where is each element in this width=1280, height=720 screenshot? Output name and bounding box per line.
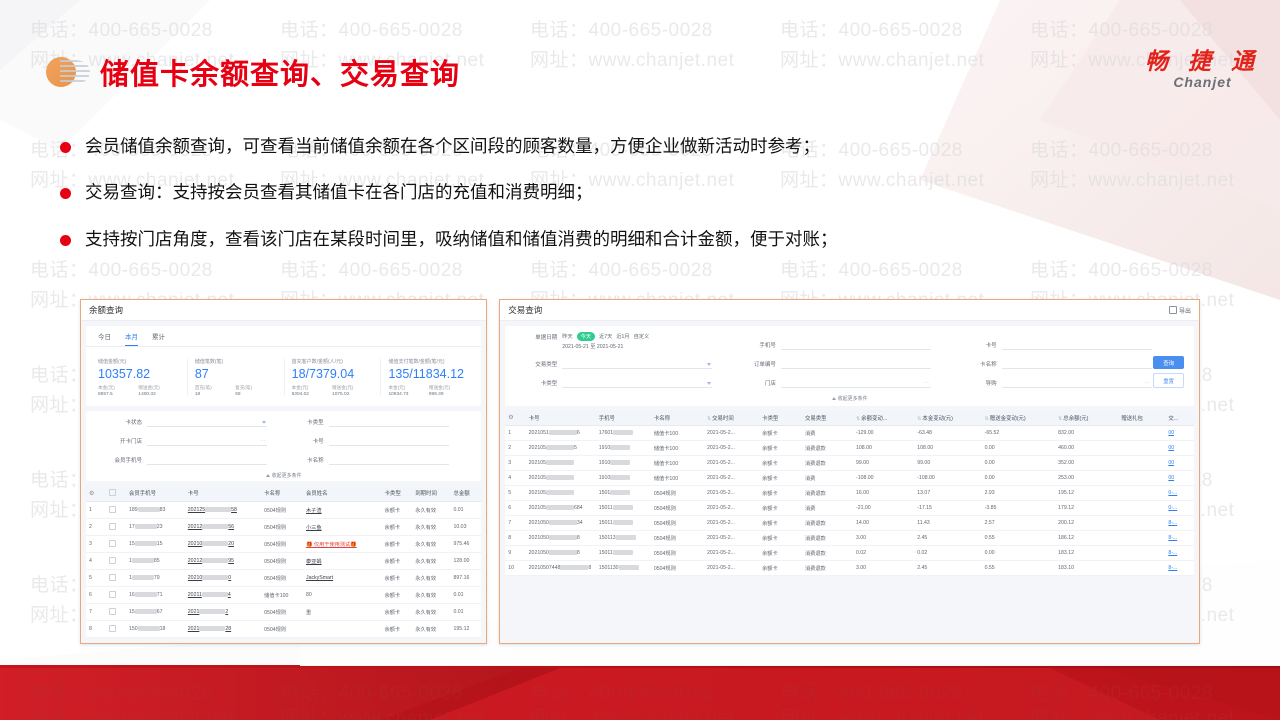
- filter-input[interactable]: [329, 417, 449, 427]
- cell-card-type: 余额卡: [759, 546, 802, 561]
- cell-total-amount: 897.16: [450, 570, 481, 587]
- balance-table-body: 118983202125580504规则木子渣余额卡永久有效0.01217232…: [86, 502, 481, 638]
- cell-expire: 永久有效: [412, 502, 450, 519]
- cell-total-balance: 183.10: [1055, 561, 1118, 576]
- col-card-name: 卡名称: [261, 485, 303, 502]
- chevron-up-icon: [266, 474, 270, 477]
- cell-expire: 永久有效: [412, 621, 450, 638]
- stat-sub-value: 1075.02: [332, 392, 372, 397]
- filter-card-type[interactable]: 卡类型: [515, 378, 736, 388]
- cell-balance-change: 3.00: [853, 561, 914, 576]
- cell-card-name: 储值卡100: [651, 441, 704, 456]
- transaction-action-buttons: 查询 重置: [1153, 356, 1184, 388]
- filter-input[interactable]: [781, 340, 931, 350]
- table-row[interactable]: 6202105684150110504规则2021-05-2...余额卡消费-2…: [505, 501, 1194, 516]
- cell-more[interactable]: 8-...: [1165, 516, 1194, 531]
- cell-member-name[interactable]: 秦亚娟: [303, 553, 382, 570]
- cell-expire: 永久有效: [412, 587, 450, 604]
- row-index: 6: [86, 587, 106, 604]
- table-row[interactable]: 51792021000504规则JackySmart余额卡永久有效897.16: [86, 570, 481, 587]
- more-dots-icon: ···: [260, 439, 265, 444]
- cell-total-balance: 200.12: [1055, 516, 1118, 531]
- cell-balance-change: 3.00: [853, 531, 914, 546]
- cell-card-no: 2021055: [526, 441, 596, 456]
- filter-input[interactable]: [147, 417, 267, 427]
- bullet-dot-icon: [60, 142, 71, 153]
- filter-card-status[interactable]: 卡状态: [96, 417, 284, 427]
- cell-phone: 1501: [596, 486, 651, 501]
- stat-sub: 复充(笔) 69: [235, 385, 275, 397]
- cell-more[interactable]: 00: [1165, 441, 1194, 456]
- quick-pick-today[interactable]: 今天: [577, 332, 595, 341]
- filter-member-phone[interactable]: 会员手机号: [96, 455, 284, 465]
- quick-pick-1month[interactable]: 近1月: [616, 333, 629, 340]
- cell-bonus-change: -3.85: [982, 501, 1056, 516]
- chanjet-logo: 畅 捷 通 Chanjet: [1145, 42, 1260, 90]
- row-checkbox[interactable]: [106, 570, 126, 587]
- cell-card-type: 余额卡: [759, 456, 802, 471]
- filter-input[interactable]: [1002, 359, 1152, 369]
- col-balance-change: ⇅余额变动...: [853, 410, 914, 426]
- row-checkbox[interactable]: [106, 519, 126, 536]
- cell-balance-change: 14.00: [853, 516, 914, 531]
- table-row[interactable]: 118983202125580504规则木子渣余额卡永久有效0.01: [86, 502, 481, 519]
- cell-total-balance: 832.00: [1055, 426, 1118, 441]
- cell-balance-change: -129.00: [853, 426, 914, 441]
- more-dots-icon: ···: [1145, 381, 1150, 386]
- stat-sub: 本金(元) 8957.5: [98, 385, 138, 397]
- cell-card-name: 0504规则: [651, 486, 704, 501]
- cell-member-name[interactable]: 木子渣: [303, 502, 382, 519]
- collapse-more-filters-label: 收起更多条件: [272, 472, 302, 479]
- cell-card-name: 储值卡100: [651, 456, 704, 471]
- cell-trans-type: 消费退款: [802, 546, 853, 561]
- cell-trans-type: 消费: [802, 426, 853, 441]
- table-row[interactable]: 2172320212560504规则小三鱼余额卡永久有效10.03: [86, 519, 481, 536]
- stat-sub-label: 本金(元): [292, 385, 332, 391]
- balance-filter-card: 卡状态 卡类型 开卡门店 ··· 卡号: [86, 411, 481, 481]
- screenshot-group: 余额查询 今日 本月 累计 储值金额(元) 10357.82 本金(元): [80, 299, 1200, 644]
- stat-sub-value: 69: [235, 392, 275, 397]
- cell-trans-type: 消费退款: [802, 531, 853, 546]
- settings-gear-icon[interactable]: ⚙: [89, 491, 94, 497]
- stat-sub-label: 赠送金(元): [429, 385, 469, 391]
- row-checkbox[interactable]: [106, 553, 126, 570]
- cell-principal-change: 11.43: [914, 516, 981, 531]
- cell-card-name: 0504规则: [651, 561, 704, 576]
- cell-expire: 永久有效: [412, 519, 450, 536]
- sort-icon[interactable]: ⇅: [707, 416, 711, 422]
- cell-member-name[interactable]: 80: [303, 587, 382, 604]
- cell-member-phone: 18983: [126, 502, 185, 519]
- cell-card-name: 0504规则: [261, 570, 303, 587]
- stat-sub-value: 899.39: [429, 392, 469, 397]
- cell-card-name: 储值卡100: [651, 471, 704, 486]
- sort-icon[interactable]: ⇅: [985, 416, 989, 422]
- chevron-down-icon: [707, 363, 711, 366]
- cell-member-name[interactable]: JackySmart: [303, 570, 382, 587]
- cell-more[interactable]: 8-...: [1165, 546, 1194, 561]
- row-checkbox[interactable]: [106, 536, 126, 553]
- cell-card-name: 0504规则: [261, 604, 303, 621]
- filter-input[interactable]: [1002, 340, 1152, 350]
- row-checkbox[interactable]: [106, 604, 126, 621]
- row-index: 9: [505, 546, 525, 561]
- cell-card-no: 202105: [526, 456, 596, 471]
- sort-icon[interactable]: ⇅: [1058, 416, 1062, 422]
- cell-trans-type: 消费退款: [802, 486, 853, 501]
- cell-total-balance: 352.00: [1055, 456, 1118, 471]
- table-row[interactable]: 12021051617601储值卡1002021-05-2...余额卡消费-12…: [505, 426, 1194, 441]
- cell-phone: 15011: [596, 546, 651, 561]
- cell-card-no[interactable]: 202114: [185, 587, 261, 604]
- cell-trans-type: 消费退款: [802, 441, 853, 456]
- cell-more[interactable]: 00: [1165, 456, 1194, 471]
- cell-bonus-change: 2.93: [982, 486, 1056, 501]
- col-total-balance: ⇅总余额(元): [1055, 410, 1118, 426]
- quick-pick-custom[interactable]: 自定义: [634, 333, 650, 340]
- row-index: 4: [86, 553, 106, 570]
- row-index: 8: [505, 531, 525, 546]
- select-all-checkbox[interactable]: [109, 489, 116, 496]
- cell-gift-package: [1118, 561, 1165, 576]
- filter-label: 订单编号: [736, 360, 776, 369]
- stat-label: 储值金额(元): [98, 358, 179, 365]
- cell-card-type: 余额卡: [759, 441, 802, 456]
- filter-label: 单据日期: [515, 332, 557, 342]
- table-header-row: ⚙ 会员手机号 卡号 卡名称 会员姓名 卡类型 到期时间 总金额: [86, 485, 481, 502]
- row-checkbox[interactable]: [106, 502, 126, 519]
- table-row[interactable]: 520210515010504规则2021-05-2...余额卡消费退款16.0…: [505, 486, 1194, 501]
- bullet-text: 支持按门店角度，查看该门店在某段时间里，吸纳储值和储值消费的明细和合计金额，便于…: [85, 228, 838, 253]
- balance-panel-body: 今日 本月 累计 储值金额(元) 10357.82 本金(元) 8957.5: [81, 321, 486, 643]
- cell-total-amount: 128.00: [450, 553, 481, 570]
- table-row[interactable]: 7202105034150110504规则2021-05-2...余额卡消费退款…: [505, 516, 1194, 531]
- filter-label: 开卡门店: [96, 437, 142, 446]
- col-expire-time: 到期时间: [412, 485, 450, 502]
- cell-card-type: 余额卡: [759, 486, 802, 501]
- cell-card-type: 余额卡: [382, 502, 413, 519]
- cell-card-type: 余额卡: [382, 536, 413, 553]
- table-row[interactable]: 61671202114储值卡10080余额卡永久有效0.01: [86, 587, 481, 604]
- cell-bonus-change: 0.00: [982, 546, 1056, 561]
- filter-store[interactable]: 门店 ···: [736, 378, 957, 388]
- filter-input[interactable]: [562, 359, 712, 369]
- filter-label: 卡名称: [957, 360, 997, 369]
- cell-member-name[interactable]: [303, 621, 382, 638]
- cell-card-name: 0504规则: [651, 546, 704, 561]
- more-dots-icon: ···: [924, 381, 929, 386]
- cell-card-no: 202105034: [526, 516, 596, 531]
- cell-member-name[interactable]: 🎁 仅用于使用测试🎁: [303, 536, 382, 553]
- cell-phone: 17601: [596, 426, 651, 441]
- cell-more[interactable]: 0-...: [1165, 486, 1194, 501]
- cell-card-no[interactable]: 2021256: [185, 519, 261, 536]
- table-row[interactable]: 71567202120504规则重余额卡永久有效0.01: [86, 604, 481, 621]
- filter-transaction-type[interactable]: 交易类型: [515, 359, 736, 369]
- tab-this-month[interactable]: 本月: [125, 331, 138, 346]
- table-row[interactable]: 220210551910储值卡1002021-05-2...余额卡消费退款108…: [505, 441, 1194, 456]
- cell-card-no[interactable]: 202128: [185, 621, 261, 638]
- cell-total-amount: 0.01: [450, 502, 481, 519]
- cell-principal-change: 108.00: [914, 441, 981, 456]
- cell-card-type: 余额卡: [759, 501, 802, 516]
- cell-balance-change: 108.00: [853, 441, 914, 456]
- cell-phone: 15011: [596, 501, 651, 516]
- filter-input[interactable]: ···: [147, 436, 267, 446]
- balance-filters: 卡状态 卡类型 开卡门店 ··· 卡号: [86, 411, 481, 481]
- table-row[interactable]: 8150182021280504规则余额卡永久有效195.12: [86, 621, 481, 638]
- table-row[interactable]: 418520212950504规则秦亚娟余额卡永久有效128.00: [86, 553, 481, 570]
- stat-value: 10357.82: [98, 367, 179, 381]
- export-icon: [1169, 306, 1177, 314]
- cell-gift-package: [1118, 456, 1165, 471]
- collapse-more-filters-button[interactable]: 收起更多条件: [832, 395, 868, 402]
- stat-sub: 本金(元) 6304.02: [292, 385, 332, 397]
- filter-label: 导购: [957, 379, 997, 388]
- filter-label: 卡类型: [515, 379, 557, 388]
- transaction-table-card: ⚙ 卡号 手机号 卡名称 ⇅交易时间 卡类型 交易类型 ⇅余额变动... ⇅本金…: [505, 410, 1194, 576]
- cell-expire: 永久有效: [412, 570, 450, 587]
- export-button[interactable]: 导出: [1169, 306, 1191, 315]
- table-header-row: ⚙ 卡号 手机号 卡名称 ⇅交易时间 卡类型 交易类型 ⇅余额变动... ⇅本金…: [505, 410, 1194, 426]
- cell-trans-time: 2021-05-2...: [704, 426, 759, 441]
- cell-principal-change: 13.07: [914, 486, 981, 501]
- filter-input[interactable]: ···: [1002, 378, 1152, 388]
- cell-gift-package: [1118, 516, 1165, 531]
- bullet-text: 会员储值余额查询，可查看当前储值余额在各个区间段的顾客数量，方便企业做新活动时参…: [85, 135, 820, 160]
- filter-open-store[interactable]: 开卡门店 ···: [96, 436, 284, 446]
- stat-sub-label: 本金(元): [388, 385, 428, 391]
- filter-order-no[interactable]: 订单编号: [736, 359, 957, 369]
- cell-member-name[interactable]: 重: [303, 604, 382, 621]
- stat-sub: 赠送金(元) 899.39: [429, 385, 469, 397]
- filter-phone[interactable]: 手机号: [736, 332, 957, 350]
- bullet-dot-icon: [60, 235, 71, 246]
- cell-phone: 15011: [596, 516, 651, 531]
- cell-phone: 1501130: [596, 561, 651, 576]
- balance-stat-cards: 储值金额(元) 10357.82 本金(元) 8957.5 赠送金(元) 140…: [86, 347, 481, 406]
- cell-trans-time: 2021-05-2...: [704, 531, 759, 546]
- transaction-table: ⚙ 卡号 手机号 卡名称 ⇅交易时间 卡类型 交易类型 ⇅余额变动... ⇅本金…: [505, 410, 1194, 576]
- cell-trans-time: 2021-05-2...: [704, 501, 759, 516]
- cell-total-amount: 195.12: [450, 621, 481, 638]
- cell-more[interactable]: 8-...: [1165, 561, 1194, 576]
- stat-sub-value: 10934.73: [388, 392, 428, 397]
- filter-input[interactable]: [329, 455, 449, 465]
- cell-card-name: 0504规则: [651, 516, 704, 531]
- cell-card-name: 0504规则: [261, 519, 303, 536]
- cell-trans-time: 2021-05-2...: [704, 486, 759, 501]
- transaction-table-body: 12021051617601储值卡1002021-05-2...余额卡消费-12…: [505, 426, 1194, 576]
- cell-gift-package: [1118, 546, 1165, 561]
- filter-input[interactable]: [329, 436, 449, 446]
- stat-sub-value: 1400.32: [138, 392, 178, 397]
- cell-more[interactable]: 8-...: [1165, 531, 1194, 546]
- cell-card-name: 0504规则: [261, 553, 303, 570]
- filter-bill-date[interactable]: 单据日期 昨天 今天 近7天 近1月 自定义 2021-05-21 至 2021…: [515, 332, 736, 350]
- filter-card-type[interactable]: 卡类型: [284, 417, 472, 427]
- row-checkbox[interactable]: [106, 587, 126, 604]
- cell-trans-type: 消费: [802, 501, 853, 516]
- table-row[interactable]: 1020210507448815011300504规则2021-05-2...余…: [505, 561, 1194, 576]
- cell-card-name: 0504规则: [261, 502, 303, 519]
- stat-sub-value: 8957.5: [98, 392, 138, 397]
- query-button[interactable]: 查询: [1153, 356, 1184, 369]
- cell-total-balance: 195.12: [1055, 486, 1118, 501]
- stat-sub-label: 赠送金(元): [138, 385, 178, 391]
- tab-total[interactable]: 累计: [152, 331, 165, 346]
- table-row[interactable]: 32021051910储值卡1002021-05-2...余额卡消费退款99.0…: [505, 456, 1194, 471]
- cell-card-no: 20210508: [526, 531, 596, 546]
- filter-label: 卡号: [957, 341, 997, 350]
- stat-card-first-recharge: 首充客户数/金额(人/元) 18/7379.04 本金(元) 6304.02 赠…: [286, 355, 379, 400]
- col-gift-package: 赠送礼包: [1118, 410, 1165, 426]
- filter-card-no[interactable]: 卡号: [284, 436, 472, 446]
- row-index: 1: [86, 502, 106, 519]
- cell-bonus-change: 2.57: [982, 516, 1056, 531]
- table-row[interactable]: 920210508150110504规则2021-05-2...余额卡消费退款0…: [505, 546, 1194, 561]
- row-index: 2: [505, 441, 525, 456]
- stat-sub: 赠送金(元) 1400.32: [138, 385, 178, 397]
- filter-input[interactable]: ···: [781, 378, 931, 388]
- cell-card-name: 0504规则: [261, 621, 303, 638]
- cell-phone: 1910: [596, 441, 651, 456]
- cell-more[interactable]: 00: [1165, 471, 1194, 486]
- col-phone: 手机号: [596, 410, 651, 426]
- row-index: 1: [505, 426, 525, 441]
- stat-card-stored-amount: 储值金额(元) 10357.82 本金(元) 8957.5 赠送金(元) 140…: [92, 355, 185, 400]
- row-index: 6: [505, 501, 525, 516]
- cell-card-type: 余额卡: [382, 587, 413, 604]
- cell-card-no[interactable]: 20212558: [185, 502, 261, 519]
- cell-trans-type: 消费: [802, 471, 853, 486]
- sort-icon[interactable]: ⇅: [917, 416, 921, 422]
- cell-card-type: 余额卡: [759, 516, 802, 531]
- tab-today[interactable]: 今日: [98, 331, 111, 346]
- col-trans-type: 交易类型: [802, 410, 853, 426]
- cell-gift-package: [1118, 426, 1165, 441]
- transaction-panel-title: 交易查询: [508, 304, 542, 316]
- filter-label: 门店: [736, 379, 776, 388]
- row-checkbox[interactable]: [106, 621, 126, 638]
- cell-card-no[interactable]: 2021295: [185, 553, 261, 570]
- row-index: 4: [505, 471, 525, 486]
- filter-card-name[interactable]: 卡名称: [284, 455, 472, 465]
- cell-gift-package: [1118, 486, 1165, 501]
- cell-card-type: 余额卡: [382, 553, 413, 570]
- cell-total-amount: 0.01: [450, 604, 481, 621]
- cell-card-no: 202105684: [526, 501, 596, 516]
- filter-card-name[interactable]: 卡名称: [957, 359, 1158, 369]
- transaction-panel-header: 交易查询 导出: [500, 300, 1199, 321]
- cell-card-type: 余额卡: [759, 426, 802, 441]
- cell-gift-package: [1118, 441, 1165, 456]
- reset-button[interactable]: 重置: [1153, 373, 1184, 388]
- cell-total-balance: 186.12: [1055, 531, 1118, 546]
- cell-card-no[interactable]: 20212: [185, 604, 261, 621]
- table-row[interactable]: 3151520210200504规则🎁 仅用于使用测试🎁余额卡永久有效975.4…: [86, 536, 481, 553]
- date-range-value[interactable]: 2021-05-21 至 2021-05-21: [562, 343, 649, 350]
- cell-trans-type: 消费退款: [802, 456, 853, 471]
- bullet-list: 会员储值余额查询，可查看当前储值余额在各个区间段的顾客数量，方便企业做新活动时参…: [60, 135, 1170, 274]
- row-index: 2: [86, 519, 106, 536]
- cell-card-no: 202105: [526, 486, 596, 501]
- cell-card-type: 余额卡: [382, 570, 413, 587]
- stat-sub-value: 18: [195, 392, 235, 397]
- filter-input[interactable]: [781, 359, 931, 369]
- table-row[interactable]: 42021051910储值卡1002021-05-2...余额卡消费-108.0…: [505, 471, 1194, 486]
- cell-phone: 1910: [596, 471, 651, 486]
- cell-total-balance: 179.12: [1055, 501, 1118, 516]
- filter-label: 手机号: [736, 341, 776, 350]
- stat-label: 储值支付笔数/金额(笔/元): [388, 358, 469, 365]
- stat-sub-label: 首充(笔): [195, 385, 235, 391]
- row-index: 5: [505, 486, 525, 501]
- cell-bonus-change: 0.55: [982, 531, 1056, 546]
- cell-more[interactable]: 0-...: [1165, 501, 1194, 516]
- bullet-item: 交易查询：支持按会员查看其储值卡在各门店的充值和消费明细；: [60, 181, 1170, 206]
- stat-sub: 首充(笔) 18: [195, 385, 235, 397]
- cell-principal-change: 2.45: [914, 561, 981, 576]
- filter-label: 会员手机号: [96, 456, 142, 465]
- quick-pick-yesterday[interactable]: 昨天: [562, 333, 572, 340]
- sort-icon[interactable]: ⇅: [856, 416, 860, 422]
- quick-pick-7days[interactable]: 近7天: [599, 333, 612, 340]
- filter-guide[interactable]: 导购 ···: [957, 378, 1158, 388]
- logo-english-text: Chanjet: [1145, 74, 1260, 90]
- col-principal-change: ⇅本金变动(元): [914, 410, 981, 426]
- collapse-more-filters-button[interactable]: 收起更多条件: [266, 472, 302, 479]
- filter-input[interactable]: [562, 378, 712, 388]
- row-index: 3: [505, 456, 525, 471]
- cell-card-type: 余额卡: [382, 519, 413, 536]
- stat-card-stored-payment: 储值支付笔数/金额(笔/元) 135/11834.12 本金(元) 10934.…: [382, 355, 475, 400]
- cell-total-balance: 183.12: [1055, 546, 1118, 561]
- balance-panel-title: 余额查询: [89, 304, 123, 316]
- cell-more[interactable]: 00: [1165, 426, 1194, 441]
- bullet-item: 支持按门店角度，查看该门店在某段时间里，吸纳储值和储值消费的明细和合计金额，便于…: [60, 228, 1170, 253]
- stat-sub-value: 6304.02: [292, 392, 332, 397]
- col-more: 交...: [1165, 410, 1194, 426]
- slide-title-row: 储值卡余额查询、交易查询: [46, 50, 460, 94]
- cell-card-no[interactable]: 2021020: [185, 536, 261, 553]
- cell-card-no: 20210508: [526, 546, 596, 561]
- col-card-type: 卡类型: [382, 485, 413, 502]
- filter-label: 卡类型: [284, 418, 324, 427]
- row-index: 3: [86, 536, 106, 553]
- cell-gift-package: [1118, 501, 1165, 516]
- cell-member-name[interactable]: 小三鱼: [303, 519, 382, 536]
- filter-card-no[interactable]: 卡号: [957, 332, 1158, 350]
- cell-card-type: 余额卡: [759, 561, 802, 576]
- stat-label: 储值笔数(笔): [195, 358, 276, 365]
- settings-gear-icon[interactable]: ⚙: [508, 415, 513, 421]
- filter-input[interactable]: [147, 455, 267, 465]
- cell-card-type: 余额卡: [382, 604, 413, 621]
- cell-card-no: 202105: [526, 471, 596, 486]
- cell-trans-time: 2021-05-2...: [704, 516, 759, 531]
- cell-trans-time: 2021-05-2...: [704, 561, 759, 576]
- stat-sub-label: 本金(元): [98, 385, 138, 391]
- bullet-item: 会员储值余额查询，可查看当前储值余额在各个区间段的顾客数量，方便企业做新活动时参…: [60, 135, 1170, 160]
- balance-summary-card: 今日 本月 累计 储值金额(元) 10357.82 本金(元) 8957.5: [86, 326, 481, 406]
- table-row[interactable]: 8202105081501130504规则2021-05-2...余额卡消费退款…: [505, 531, 1194, 546]
- cell-card-no[interactable]: 202100: [185, 570, 261, 587]
- cell-card-name: 0504规则: [261, 536, 303, 553]
- page-title: 储值卡余额查询、交易查询: [100, 51, 460, 93]
- stat-value: 87: [195, 367, 276, 381]
